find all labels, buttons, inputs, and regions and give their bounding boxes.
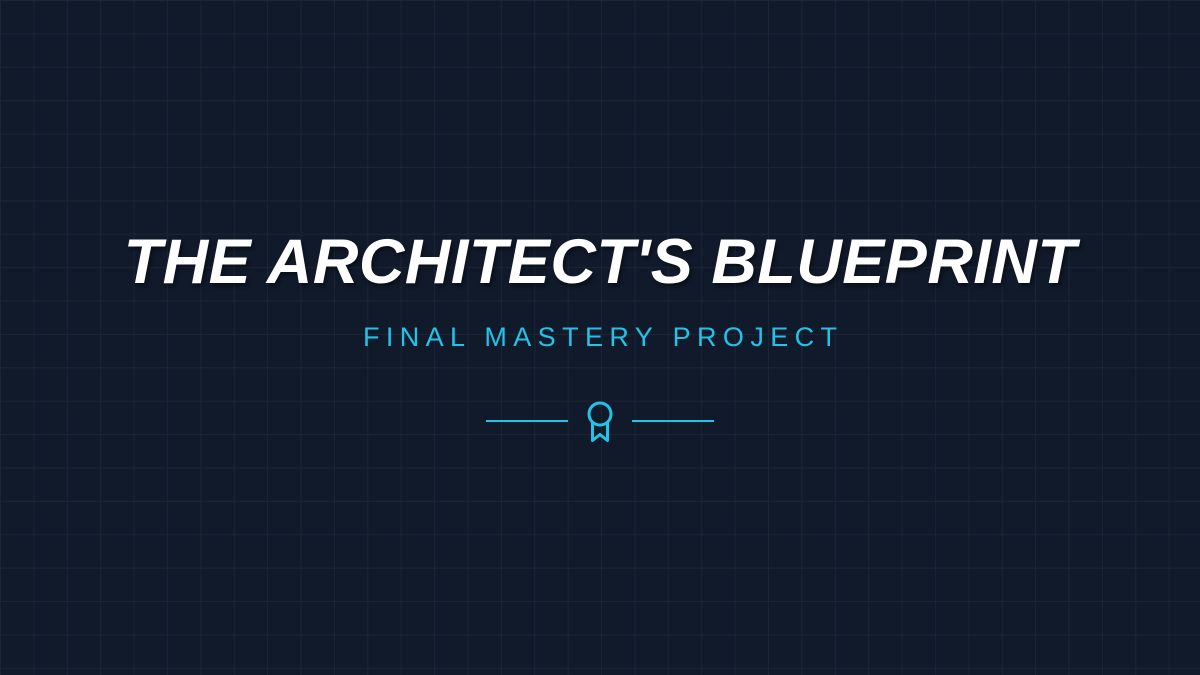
slide-content: THE ARCHITECT'S BLUEPRINT FINAL MASTERY … xyxy=(0,0,1200,675)
divider-rule-left xyxy=(486,420,568,422)
title-slide: THE ARCHITECT'S BLUEPRINT FINAL MASTERY … xyxy=(0,0,1200,675)
slide-subtitle: FINAL MASTERY PROJECT xyxy=(357,324,844,351)
slide-title: THE ARCHITECT'S BLUEPRINT xyxy=(124,231,1077,294)
divider-rule-right xyxy=(632,420,714,422)
award-ribbon-icon xyxy=(577,397,623,445)
divider-with-badge xyxy=(486,397,714,445)
